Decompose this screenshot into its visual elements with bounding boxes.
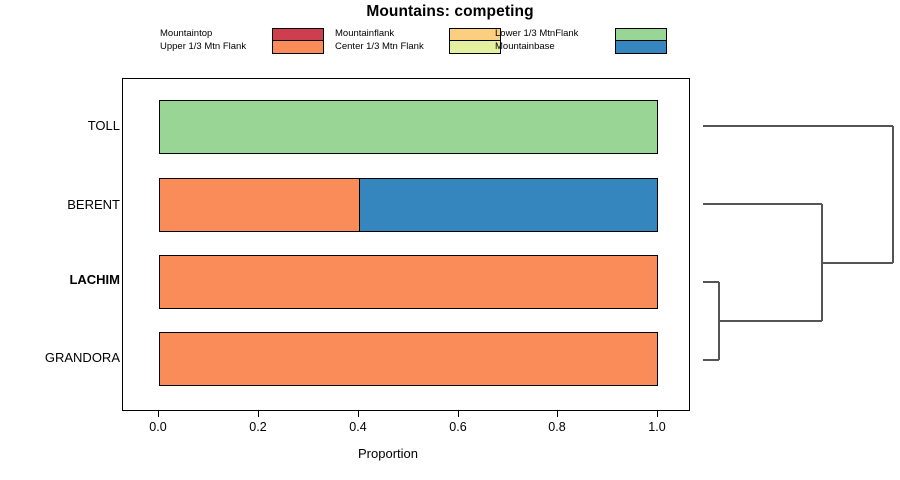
stacked-bar-lachim (159, 255, 658, 309)
bar-row-lachim[interactable] (159, 255, 658, 309)
bar-segment-berent-upper-1-3-mtn-flank (160, 179, 359, 231)
legend: Mountaintop Upper 1/3 Mtn Flank Mountain… (160, 27, 740, 57)
axis-tick-label-3: 0.6 (428, 420, 488, 434)
bar-segment-grandora-upper-1-3-mtn-flank (160, 333, 657, 385)
legend-label-upper-1-3-mtn-flank: Upper 1/3 Mtn Flank (160, 40, 270, 53)
axis-tick-label-1: 0.2 (228, 420, 288, 434)
axis-tick-mark-3 (458, 411, 459, 417)
axis-tick-label-5: 1.0 (627, 420, 687, 434)
bar-row-grandora[interactable] (159, 332, 658, 386)
legend-swatch-lower-1-3-mtn-flank (616, 29, 666, 41)
axis-tick-label-4: 0.8 (527, 420, 587, 434)
row-label-toll: TOLL (0, 118, 120, 133)
row-label-lachim: LACHIM (0, 272, 120, 287)
legend-swatch-upper-1-3-mtn-flank (273, 41, 323, 53)
legend-column-2-swatches (449, 28, 501, 54)
row-label-berent: BERENT (0, 197, 120, 212)
legend-label-mountainbase: Mountainbase (495, 40, 605, 53)
axis-tick-mark-1 (258, 411, 259, 417)
dendrogram (690, 0, 900, 480)
legend-label-lower-1-3-mtn-flank: Lower 1/3 MtnFlank (495, 27, 605, 40)
bar-segment-berent-mountainbase (359, 179, 657, 231)
stacked-bar-berent (159, 178, 658, 232)
legend-swatch-mountainflank (450, 29, 500, 41)
stacked-bar-toll (159, 100, 658, 154)
axis-tick-mark-0 (158, 411, 159, 417)
axis-tick-mark-4 (557, 411, 558, 417)
legend-column-3-swatches (615, 28, 667, 54)
row-label-grandora: GRANDORA (0, 350, 120, 365)
x-axis-title: Proportion (358, 446, 418, 461)
bar-row-toll[interactable] (159, 100, 658, 154)
bar-segment-toll-lower-1-3-mtnflank (160, 101, 657, 153)
stacked-bar-grandora (159, 332, 658, 386)
legend-label-mountaintop: Mountaintop (160, 27, 270, 40)
axis-tick-mark-2 (358, 411, 359, 417)
legend-column-3-labels: Lower 1/3 MtnFlank Mountainbase (495, 27, 605, 53)
legend-column-2-labels: Mountainflank Center 1/3 Mtn Flank (335, 27, 445, 53)
bar-row-berent[interactable] (159, 178, 658, 232)
legend-swatch-mountainbase (616, 41, 666, 53)
legend-label-center-1-3-mtn-flank: Center 1/3 Mtn Flank (335, 40, 445, 53)
legend-swatch-mountaintop (273, 29, 323, 41)
legend-column-1-labels: Mountaintop Upper 1/3 Mtn Flank (160, 27, 270, 53)
bar-segment-lachim-upper-1-3-mtn-flank (160, 256, 657, 308)
axis-tick-label-2: 0.4 (328, 420, 388, 434)
chart-canvas: Mountains: competing Mountaintop Upper 1… (0, 0, 900, 480)
axis-tick-label-0: 0.0 (128, 420, 188, 434)
legend-column-1-swatches (272, 28, 324, 54)
plot-area (122, 78, 690, 411)
legend-label-mountainflank: Mountainflank (335, 27, 445, 40)
axis-tick-mark-5 (657, 411, 658, 417)
legend-swatch-center-1-3-mtn-flank (450, 41, 500, 53)
